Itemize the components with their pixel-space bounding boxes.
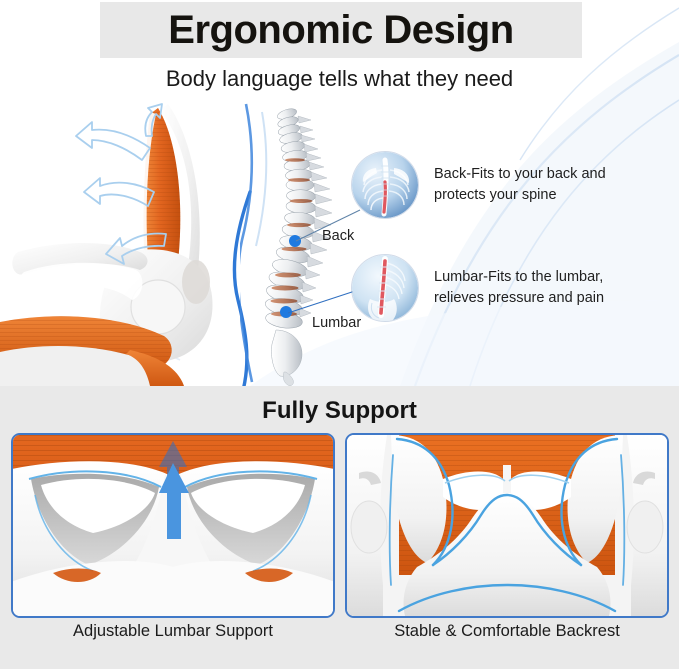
panel-lumbar-support: 5cm (2”): [11, 433, 335, 618]
xray-lumbar-icon: [352, 255, 418, 321]
panel-captions: Adjustable Lumbar Support Stable & Comfo…: [0, 622, 679, 656]
infographic-page: Ergonomic Design Body language tells wha…: [0, 0, 679, 669]
callout-lumbar-text: Lumbar-Fits to the lumbar, relieves pres…: [434, 267, 604, 308]
ergonomic-design-section: Ergonomic Design Body language tells wha…: [0, 0, 679, 386]
lumbar-support-image: [13, 435, 333, 616]
caption-lumbar-support: Adjustable Lumbar Support: [11, 622, 335, 641]
fully-support-title: Fully Support: [0, 397, 679, 425]
fully-support-section: Fully Support: [0, 386, 679, 669]
callout-lumbar: Lumbar-Fits to the lumbar, relieves pres…: [352, 255, 604, 321]
callout-back-text: Back-Fits to your back and protects your…: [434, 164, 606, 205]
xray-upper-back-icon: [352, 152, 418, 218]
caption-backrest: Stable & Comfortable Backrest: [345, 622, 669, 641]
backrest-image: [347, 435, 667, 616]
panel-backrest: [345, 433, 669, 618]
spine-label-back: Back: [322, 228, 354, 244]
support-panels: 5cm (2”): [0, 433, 679, 623]
callout-back: Back-Fits to your back and protects your…: [352, 152, 606, 218]
